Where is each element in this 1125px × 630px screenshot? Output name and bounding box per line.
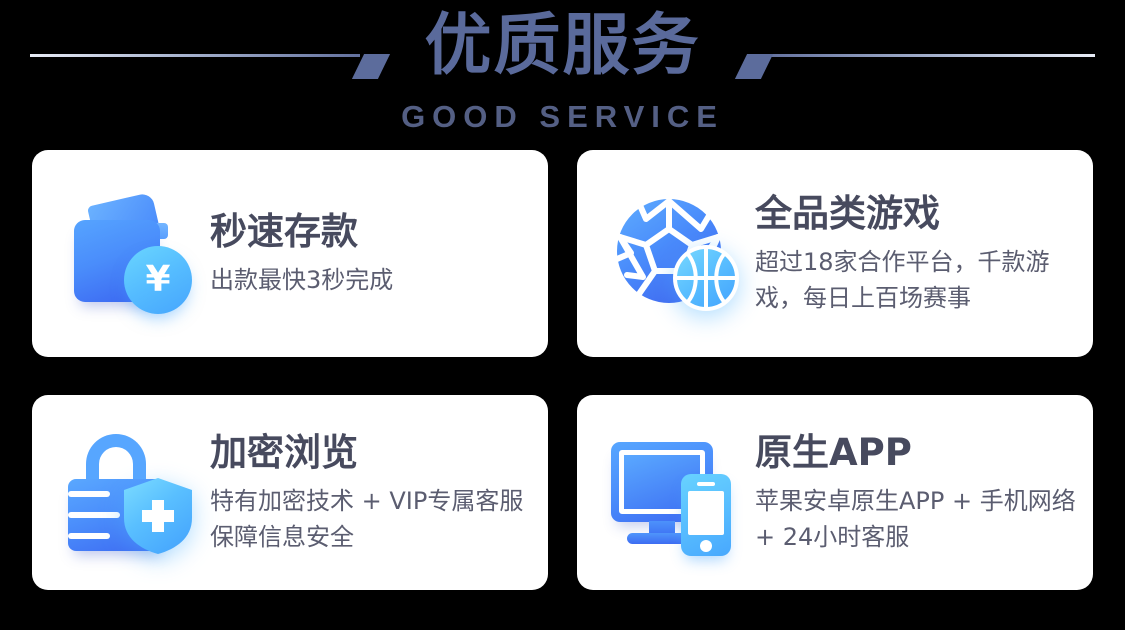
- feature-card-text: 原生APP 苹果安卓原生APP + 手机网络 + 24小时客服: [743, 431, 1093, 555]
- card-title: 加密浏览: [210, 431, 538, 475]
- feature-card-encrypted-browsing[interactable]: 加密浏览 特有加密技术 + VIP专属客服保障信息安全: [32, 395, 548, 590]
- phone-speaker-icon: [697, 482, 715, 486]
- promo-page: 优质服务 GOOD SERVICE ¥ 秒速存款 出款最快3秒完成: [0, 0, 1125, 630]
- card-subtitle: 出款最快3秒完成: [210, 262, 393, 298]
- monitor-phone-icon: [605, 428, 743, 558]
- feature-card-text: 加密浏览 特有加密技术 + VIP专属客服保障信息安全: [198, 431, 548, 555]
- lock-line-icon: [68, 512, 120, 518]
- card-title: 秒速存款: [210, 210, 393, 254]
- phone-screen-icon: [688, 491, 724, 535]
- card-subtitle: 超过18家合作平台，千款游戏，每日上百场赛事: [755, 244, 1083, 316]
- card-title: 原生APP: [755, 431, 1083, 475]
- basketball-icon: [673, 245, 739, 311]
- feature-card-native-app[interactable]: 原生APP 苹果安卓原生APP + 手机网络 + 24小时客服: [577, 395, 1093, 590]
- shield-plus-icon: [122, 476, 194, 556]
- page-subtitle: GOOD SERVICE: [0, 99, 1125, 135]
- lock-shield-icon: [60, 428, 198, 558]
- wallet-coin-icon: ¥: [60, 189, 198, 319]
- feature-card-text: 全品类游戏 超过18家合作平台，千款游戏，每日上百场赛事: [743, 192, 1093, 316]
- soccer-basketball-icon: [605, 189, 743, 319]
- feature-card-text: 秒速存款 出款最快3秒完成: [198, 210, 403, 298]
- feature-card-grid: ¥ 秒速存款 出款最快3秒完成: [32, 150, 1093, 590]
- phone-home-button-icon: [700, 540, 712, 552]
- page-header: 优质服务 GOOD SERVICE: [0, 0, 1125, 142]
- card-title: 全品类游戏: [755, 192, 1083, 236]
- yen-coin-icon: ¥: [124, 246, 192, 314]
- card-subtitle: 苹果安卓原生APP + 手机网络 + 24小时客服: [755, 483, 1083, 555]
- page-title: 优质服务: [0, 4, 1125, 86]
- feature-card-instant-deposit[interactable]: ¥ 秒速存款 出款最快3秒完成: [32, 150, 548, 357]
- lock-line-icon: [68, 491, 110, 497]
- feature-card-all-games[interactable]: 全品类游戏 超过18家合作平台，千款游戏，每日上百场赛事: [577, 150, 1093, 357]
- lock-line-icon: [68, 533, 110, 539]
- card-subtitle: 特有加密技术 + VIP专属客服保障信息安全: [210, 483, 538, 555]
